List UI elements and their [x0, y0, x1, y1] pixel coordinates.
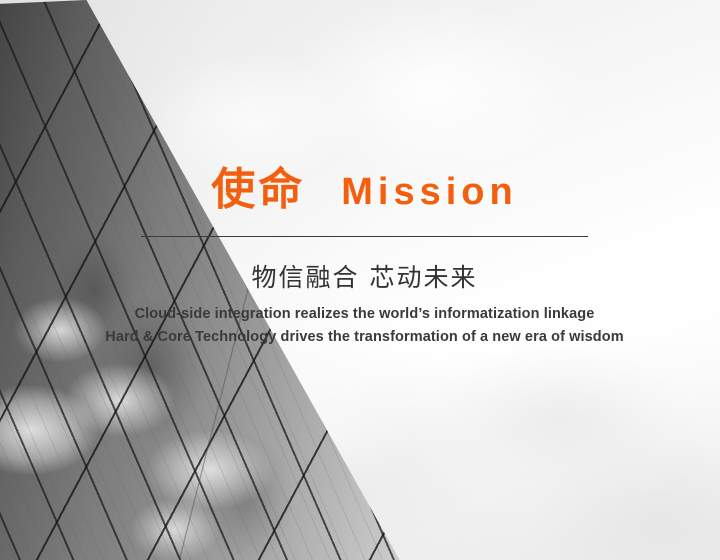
subtitle-chinese: 物信融合 芯动未来: [141, 258, 588, 294]
mission-banner: 使命Mission 物信融合 芯动未来 Cloud-side integrati…: [0, 0, 720, 560]
tagline-line-2: Hard & Core Technology drives the transf…: [41, 326, 688, 349]
banner-content: 使命Mission 物信融合 芯动未来 Cloud-side integrati…: [0, 0, 720, 560]
page-title-english: Mission: [341, 171, 517, 213]
tagline-line-1: Cloud-side integration realizes the worl…: [41, 303, 688, 326]
title-divider-rule: [141, 236, 588, 237]
page-title-chinese: 使命: [211, 164, 305, 215]
page-title: 使命Mission: [141, 168, 588, 212]
tagline-group: Cloud-side integration realizes the worl…: [41, 303, 688, 349]
